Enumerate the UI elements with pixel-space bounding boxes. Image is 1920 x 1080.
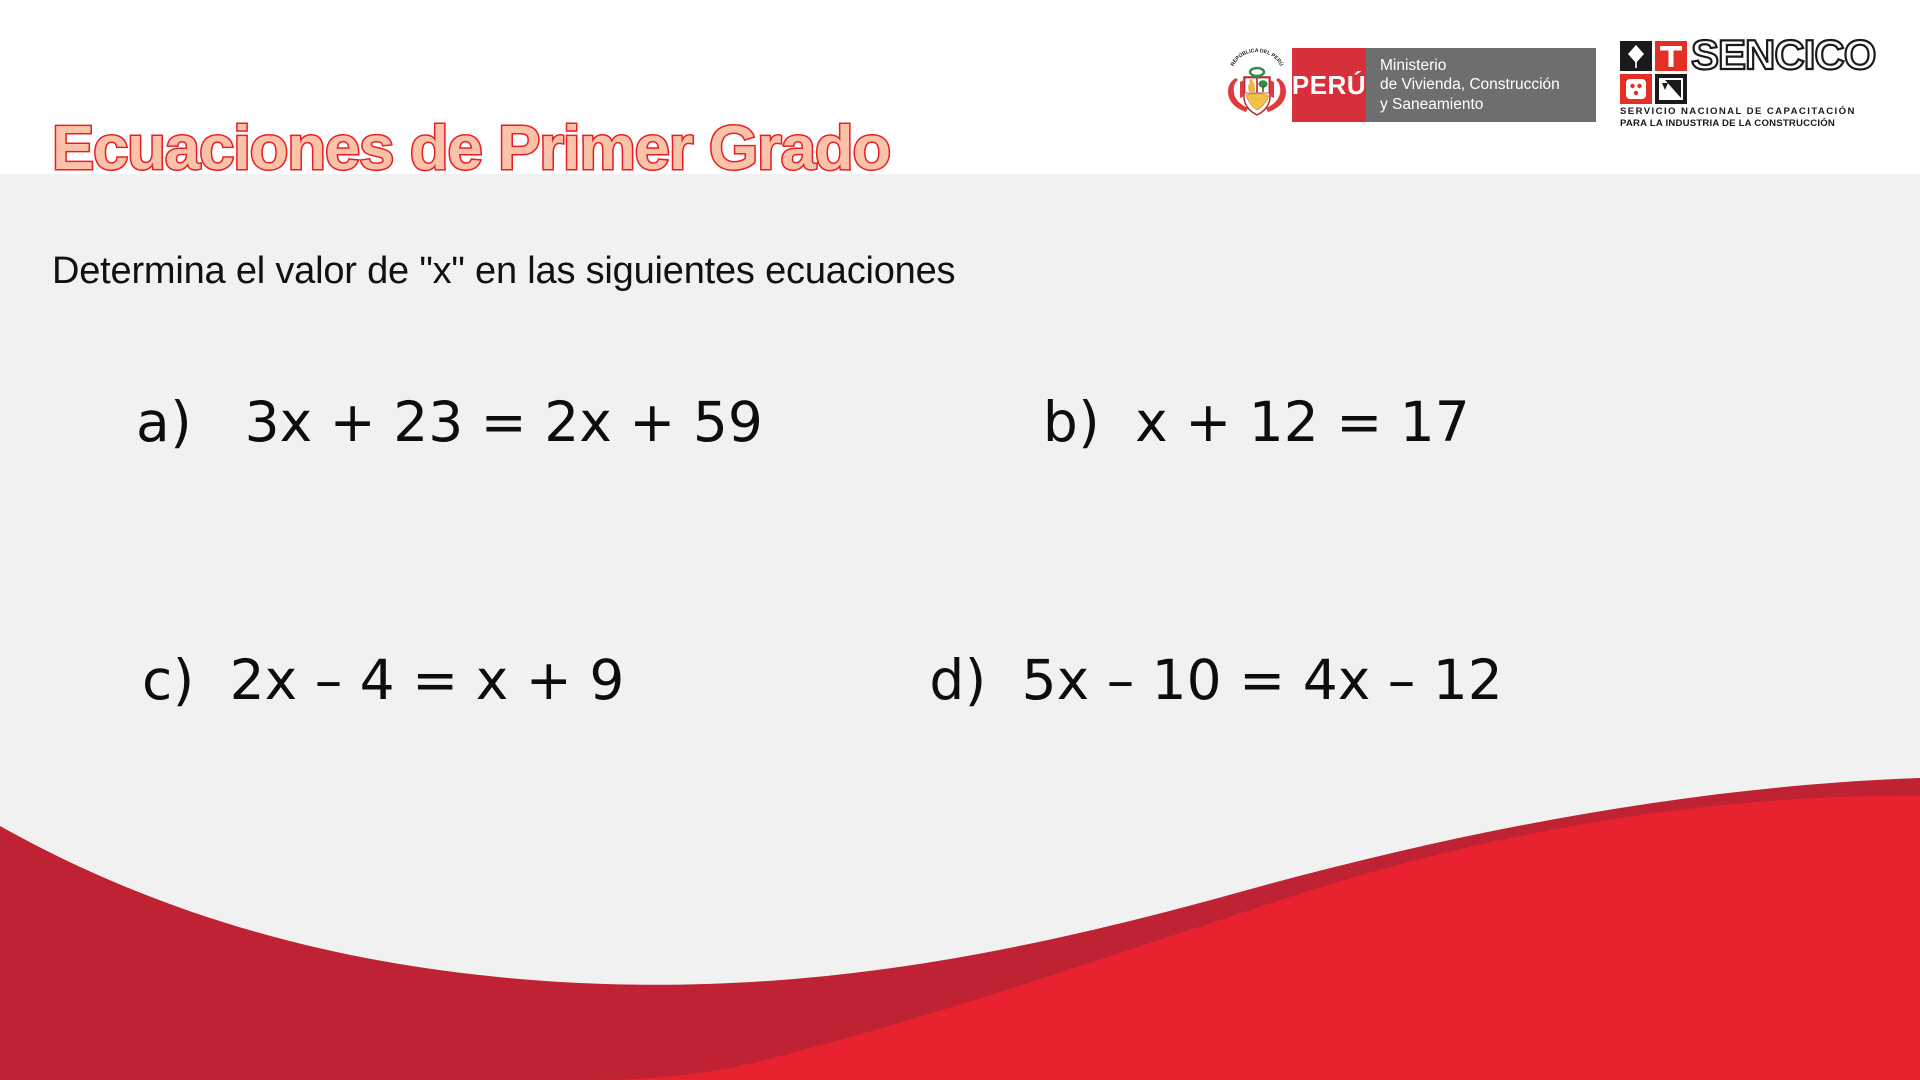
exercise-item-b: b) x + 12 = 17 [1043,395,1470,450]
exercise-label-a: a) [136,390,192,454]
exercise-row-2: c) 2x – 4 = x + 9 d) 5x – 10 = 4x – 12 [0,653,1920,911]
trowel-icon [1620,41,1652,71]
exercise-item-c: c) 2x – 4 = x + 9 [142,653,624,708]
pipe-fitting-icon [1655,41,1687,71]
exercise-equation-a: 3x + 23 = 2x + 59 [245,390,763,454]
sencico-tagline-line-2: PARA LA INDUSTRIA DE LA CONSTRUCCIÓN [1620,118,1875,129]
ministerio-line-3: y Saneamiento [1380,95,1584,114]
exercise-equation-d: 5x – 10 = 4x – 12 [1022,648,1503,712]
exercise-equation-c: 2x – 4 = x + 9 [230,648,625,712]
sencico-top-row: SENCICO [1620,41,1875,104]
slide-canvas: REPÚBLICA DEL PERÚ [0,0,1920,1080]
sencico-wordmark: SENCICO [1691,39,1875,72]
peru-wordmark: PERÚ [1292,48,1366,122]
exercise-equation-b: x + 12 = 17 [1135,390,1470,454]
exercise-item-a: a) 3x + 23 = 2x + 59 [136,395,763,450]
peru-label: PERÚ [1292,70,1366,101]
instruction-text: Determina el valor de "x" en las siguien… [52,250,955,293]
exercise-label-d: d) [929,648,986,712]
exercise-grid: a) 3x + 23 = 2x + 59 b) x + 12 = 17 c) 2… [0,395,1920,911]
electrical-outlet-icon [1620,74,1652,104]
exercise-row-1: a) 3x + 23 = 2x + 59 b) x + 12 = 17 [0,395,1920,653]
exercise-item-d: d) 5x – 10 = 4x – 12 [929,653,1502,708]
svg-text:REPÚBLICA DEL PERÚ: REPÚBLICA DEL PERÚ [1230,48,1285,67]
ministerio-line-2: de Vivienda, Construcción [1380,75,1584,94]
ministerio-vivienda-logo: REPÚBLICA DEL PERÚ [1222,48,1596,122]
sencico-icon-grid [1620,41,1687,104]
peru-coat-of-arms-icon: REPÚBLICA DEL PERÚ [1222,48,1292,122]
logo-cluster: REPÚBLICA DEL PERÚ [1222,48,1875,122]
ministerio-line-1: Ministerio [1380,56,1584,75]
ministerio-text-block: Ministerio de Vivienda, Construcción y S… [1366,48,1596,122]
sencico-tagline-line-1: SERVICIO NACIONAL DE CAPACITACIÓN [1620,106,1875,117]
page-title: Ecuaciones de Primer Grado [52,113,890,184]
exercise-label-b: b) [1043,390,1100,454]
concrete-mixer-icon [1655,74,1687,104]
sencico-logo: SENCICO SERVICIO NACIONAL DE CAPACITACIÓ… [1620,48,1875,122]
sencico-tagline: SERVICIO NACIONAL DE CAPACITACIÓN PARA L… [1620,106,1875,129]
exercise-label-c: c) [142,648,195,712]
